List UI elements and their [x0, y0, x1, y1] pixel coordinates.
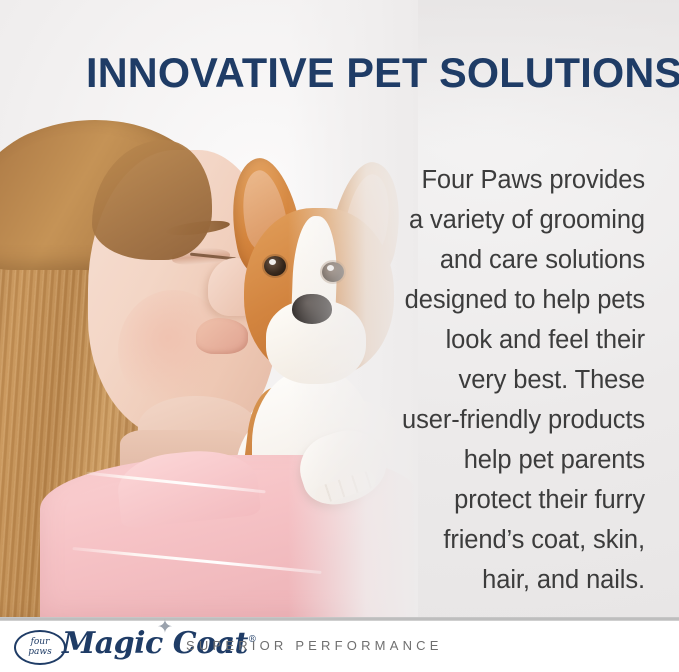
- girl-lips-kissing: [196, 318, 248, 354]
- page-title: INNOVATIVE PET SOLUTIONS: [86, 52, 618, 94]
- body-copy-line: very best. These: [387, 360, 645, 400]
- body-copy-line: friend’s coat, skin,: [387, 520, 645, 560]
- body-copy-line: protect their furry: [387, 480, 645, 520]
- body-copy-line: help pet parents: [387, 440, 645, 480]
- body-copy-line: user-friendly products: [387, 400, 645, 440]
- body-copy-line: a variety of grooming: [387, 200, 645, 240]
- star-icon: ✦: [155, 618, 175, 638]
- body-copy-line: Four Paws provides: [387, 160, 645, 200]
- body-copy-line: hair, and nails.: [387, 560, 645, 600]
- advertisement-banner: INNOVATIVE PET SOLUTIONS Four Paws provi…: [0, 0, 679, 672]
- four-paws-logo-line2: paws: [28, 648, 51, 657]
- puppy-eye-left: [264, 256, 286, 276]
- four-paws-logo-icon: four paws: [14, 630, 66, 665]
- four-paws-logo-line1: four: [31, 638, 50, 647]
- footer-tagline: SUPERIOR PERFORMANCE: [186, 638, 443, 653]
- body-copy-line: and care solutions: [387, 240, 645, 280]
- body-copy: Four Paws provides a variety of grooming…: [387, 160, 645, 600]
- body-copy-line: look and feel their: [387, 320, 645, 360]
- body-copy-line: designed to help pets: [387, 280, 645, 320]
